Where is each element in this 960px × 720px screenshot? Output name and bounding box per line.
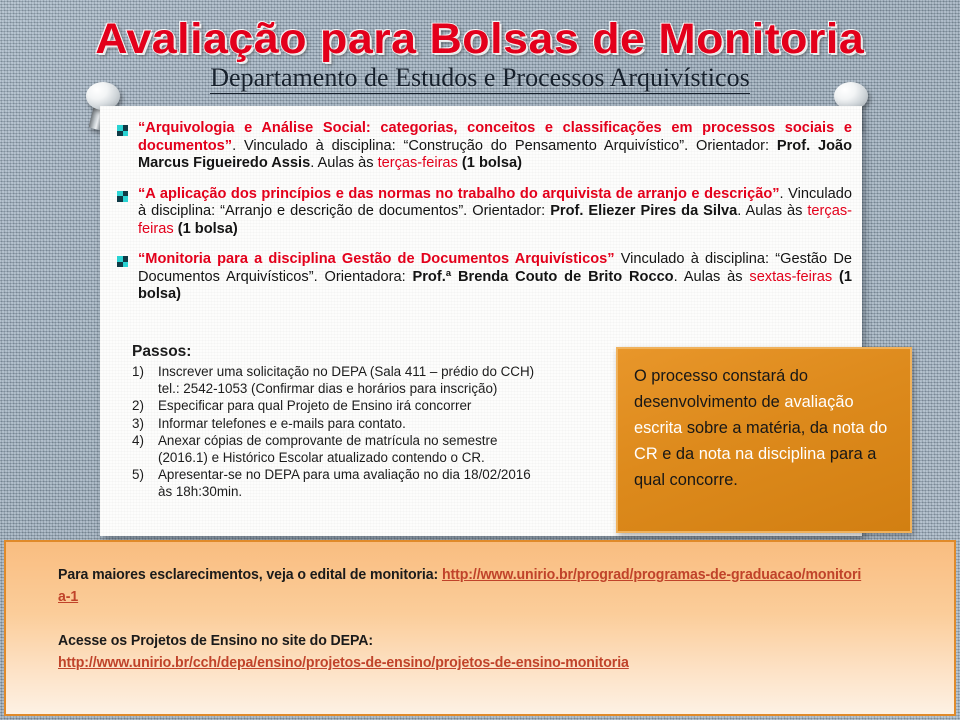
depa-projects-link[interactable]: http://www.unirio.br/cch/depa/ensino/pro… [58,654,629,671]
list-item: 5) Apresentar-se no DEPA para uma avalia… [132,466,632,500]
project-advisor: Prof. Eliezer Pires da Silva [550,203,737,219]
projects-list: “Arquivologia e Análise Social: categori… [116,120,852,317]
footer-label-edital: Para maiores esclarecimentos, veja o edi… [58,566,434,583]
teal-checker-bullet-icon [117,191,128,202]
steps-block: Passos: 1) Inscrever uma solicitação no … [132,342,632,501]
project-text: “A aplicação dos princípios e das normas… [138,186,852,239]
subtitle-block: Departamento de Estudos e Processos Arqu… [0,63,960,93]
list-item: “A aplicação dos princípios e das normas… [116,186,852,239]
title-block: Avaliação para Bolsas de Monitoria [0,14,960,64]
teal-checker-bullet-icon [117,256,128,267]
footer-label-depa: Acesse os Projetos de Ensino no site do … [58,632,373,649]
step-number: 3) [132,415,144,432]
page-title: Avaliação para Bolsas de Monitoria [95,14,864,64]
footer-links-panel: Para maiores esclarecimentos, veja o edi… [4,540,956,716]
steps-heading: Passos: [132,342,632,361]
steps-list: 1) Inscrever uma solicitação no DEPA (Sa… [132,363,632,501]
callout-seg-3: sobre a matéria, da [682,419,832,437]
step-line-1: Especificar para qual Projeto de Ensino … [158,397,632,414]
step-line-2: tel.: 2542-1053 (Confirmar dias e horári… [158,380,632,397]
department-subtitle: Departamento de Estudos e Processos Arqu… [210,63,749,94]
footer-line-3: http://www.unirio.br/cch/depa/ensino/pro… [58,652,865,674]
project-day: sextas-feiras [749,269,832,285]
step-line-1: Informar telefones e e-mails para contat… [158,415,632,432]
footer-line-2: Acesse os Projetos de Ensino no site do … [58,630,865,652]
callout-seg-6: nota na disciplina [699,445,826,463]
step-line-2: (2016.1) e Histórico Escolar atualizado … [158,449,632,466]
slide-canvas: Avaliação para Bolsas de Monitoria Depar… [0,0,960,720]
step-line-1: Anexar cópias de comprovante de matrícul… [158,432,632,449]
footer-spacer [58,608,926,630]
footer-line-1: Para maiores esclarecimentos, veja o edi… [58,564,865,608]
list-item: 4) Anexar cópias de comprovante de matrí… [132,432,632,466]
project-text: “Monitoria para a disciplina Gestão de D… [138,251,852,304]
project-title: “Monitoria para a disciplina Gestão de D… [138,251,615,267]
callout-seg-5: e da [658,445,699,463]
footer-separator: : [434,566,442,583]
step-line-2: às 18h:30min. [158,483,632,500]
evaluation-callout: O processo constará do desenvolvimento d… [616,347,912,533]
project-advisor: Prof.ª Brenda Couto de Brito Rocco [413,269,674,285]
project-day: terças-feiras [378,155,458,171]
list-item: “Monitoria para a disciplina Gestão de D… [116,251,852,304]
project-title: “A aplicação dos princípios e das normas… [138,186,780,202]
step-number: 1) [132,363,144,380]
project-body-2: . Aulas às [310,155,377,171]
project-body-1: . Vinculado à disciplina: “Construção do… [232,138,777,154]
step-number: 4) [132,432,144,449]
project-slots: (1 bolsa) [178,221,238,237]
project-body-2: . Aulas às [737,203,807,219]
step-line-1: Apresentar-se no DEPA para uma avaliação… [158,466,632,483]
project-text: “Arquivologia e Análise Social: categori… [138,120,852,173]
project-body-2: . Aulas às [674,269,750,285]
step-number: 5) [132,466,144,483]
callout-seg-1: O processo constará do desenvolvimento d… [634,367,808,411]
list-item: “Arquivologia e Análise Social: categori… [116,120,852,173]
list-item: 1) Inscrever uma solicitação no DEPA (Sa… [132,363,632,397]
project-slots: (1 bolsa) [462,155,522,171]
step-number: 2) [132,397,144,414]
list-item: 3) Informar telefones e e-mails para con… [132,415,632,432]
list-item: 2) Especificar para qual Projeto de Ensi… [132,397,632,414]
step-line-1: Inscrever uma solicitação no DEPA (Sala … [158,363,632,380]
content-panel: “Arquivologia e Análise Social: categori… [100,106,862,536]
teal-checker-bullet-icon [117,125,128,136]
